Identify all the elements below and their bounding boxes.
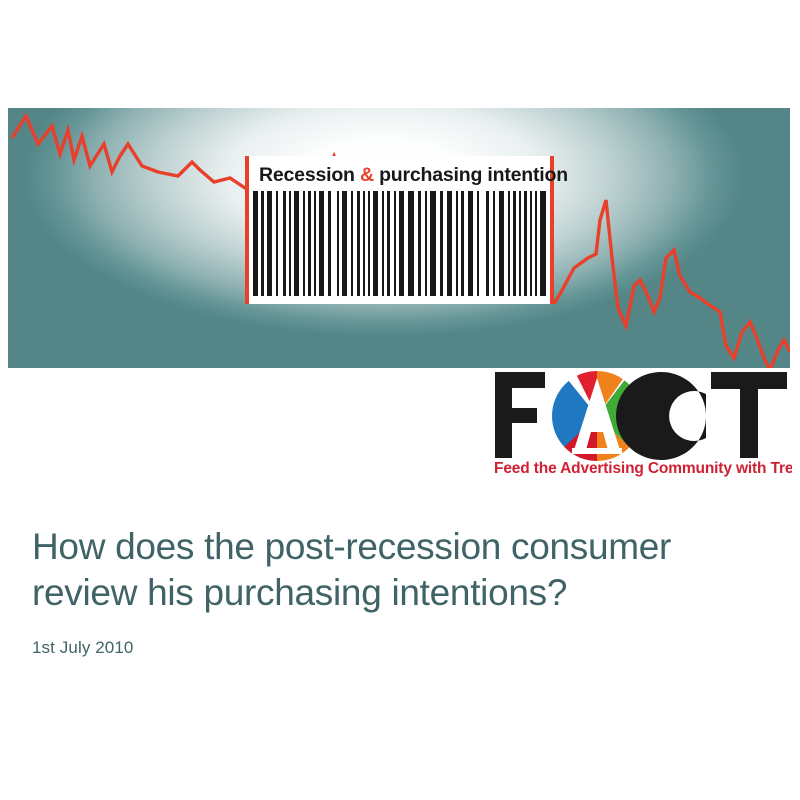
barcode-graphic: Recession & purchasing intention	[245, 156, 554, 304]
barcode-caption: Recession & purchasing intention	[259, 161, 541, 189]
logo-letter-c	[616, 372, 706, 460]
fact-logo: Feed the Advertising Community with Tren…	[492, 370, 792, 478]
barcode-bars	[253, 191, 546, 296]
logo-tagline: Feed the Advertising Community with Tren…	[494, 460, 792, 477]
barcode-caption-prefix: Recession	[259, 164, 360, 186]
title-block: How does the post-recession consumer rev…	[32, 524, 762, 659]
logo-letter-t	[711, 372, 787, 458]
slide-date: 1st July 2010	[32, 637, 762, 659]
page-title: How does the post-recession consumer rev…	[32, 524, 762, 616]
barcode-caption-suffix: purchasing intention	[374, 164, 568, 186]
barcode-left-rule	[245, 156, 249, 304]
trend-line-right	[554, 200, 790, 368]
title-slide: Recession & purchasing intention	[0, 0, 800, 800]
banner-image: Recession & purchasing intention	[8, 108, 790, 368]
logo-letter-f	[495, 372, 545, 458]
barcode-caption-ampersand: &	[360, 164, 374, 186]
